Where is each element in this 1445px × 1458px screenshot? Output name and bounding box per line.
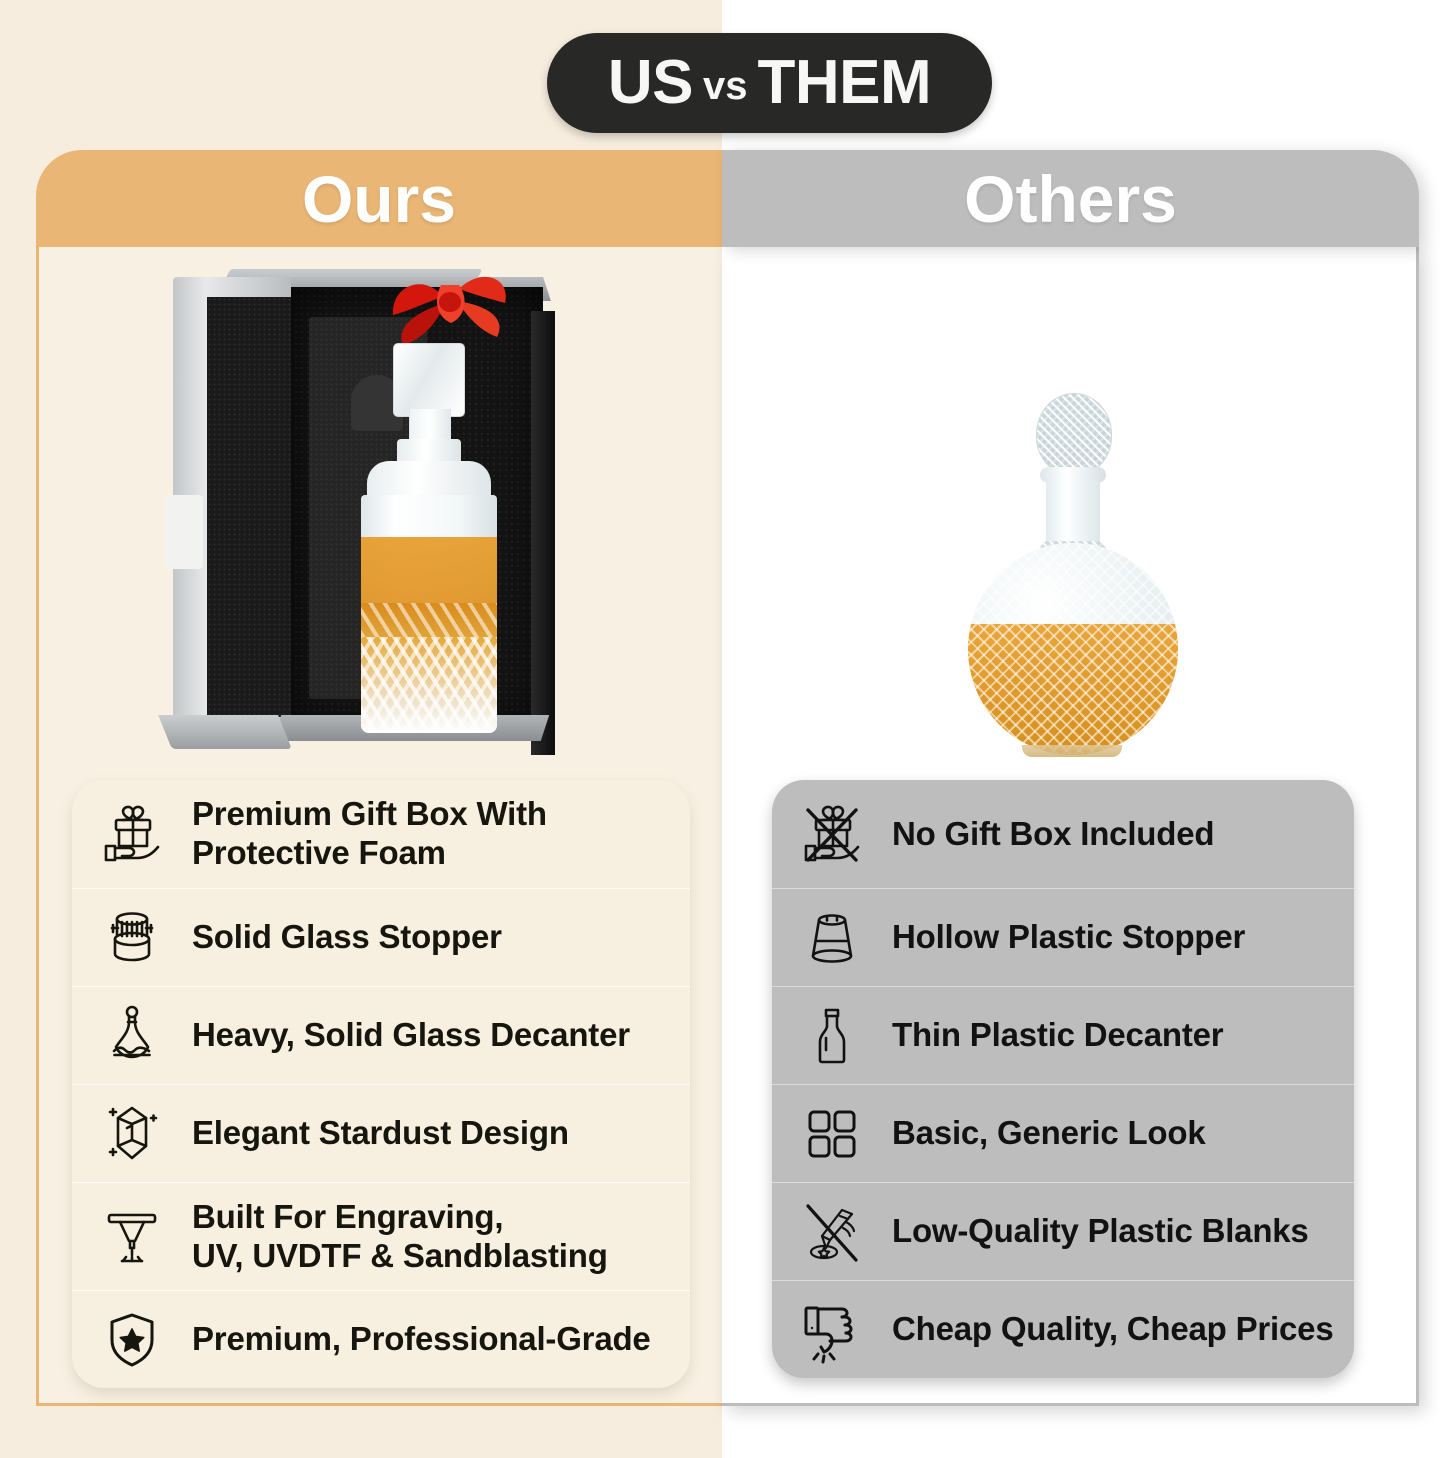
others-feature-row-plastic-blanks: Low-Quality Plastic Blanks (772, 1182, 1354, 1280)
glass-stopper-icon (72, 902, 192, 974)
others-feature-row-hollow-stopper: Hollow Plastic Stopper (772, 888, 1354, 986)
ours-feature-row-stopper: Solid Glass Stopper (72, 888, 690, 986)
thin-bottle-icon (772, 1000, 892, 1072)
others-feature-label: No Gift Box Included (892, 815, 1224, 854)
ours-feature-row-gift-box: Premium Gift Box With Protective Foam (72, 780, 690, 888)
others-feature-label: Low-Quality Plastic Blanks (892, 1212, 1319, 1251)
title-them: THEM (757, 52, 931, 114)
ours-product-photo (39, 247, 722, 767)
engraving-pen-crossed-out-icon (772, 1196, 892, 1268)
ours-feature-label: Heavy, Solid Glass Decanter (192, 1016, 640, 1055)
title-vs: vs (703, 66, 748, 106)
others-feature-row-thin-decanter: Thin Plastic Decanter (772, 986, 1354, 1084)
gem-sparkle-icon (72, 1098, 192, 1170)
ours-feature-row-engraving: Built For Engraving, UV, UVDTF & Sandbla… (72, 1182, 690, 1290)
others-product-photo (722, 247, 1416, 767)
ours-feature-label: Premium, Professional-Grade (192, 1320, 661, 1359)
others-feature-row-cheap-quality: Cheap Quality, Cheap Prices (772, 1280, 1354, 1378)
ours-feature-row-decanter: Heavy, Solid Glass Decanter (72, 986, 690, 1084)
ours-feature-row-premium: Premium, Professional-Grade (72, 1290, 690, 1388)
comparison-infographic: US vs THEM (0, 0, 1445, 1458)
ours-feature-label: Elegant Stardust Design (192, 1114, 579, 1153)
others-feature-label: Basic, Generic Look (892, 1114, 1216, 1153)
laser-engraver-icon (72, 1201, 192, 1273)
ours-feature-row-stardust: Elegant Stardust Design (72, 1084, 690, 1182)
others-feature-label: Thin Plastic Decanter (892, 1016, 1233, 1055)
round-textured-decanter (958, 393, 1188, 763)
shield-star-icon (72, 1304, 192, 1376)
decanter-bottle-icon (72, 1000, 192, 1072)
title-badge: US vs THEM (547, 33, 992, 133)
others-feature-label: Hollow Plastic Stopper (892, 918, 1255, 957)
hollow-plastic-stopper-icon (772, 902, 892, 974)
gift-box-in-hand-icon (72, 798, 192, 870)
others-feature-row-no-gift-box: No Gift Box Included (772, 780, 1354, 888)
others-header: Others (722, 150, 1419, 247)
ours-feature-label: Built For Engraving, UV, UVDTF & Sandbla… (192, 1198, 618, 1276)
four-squares-grid-icon (772, 1098, 892, 1170)
others-feature-list: No Gift Box Included Hollow Plastic Stop… (772, 780, 1354, 1378)
others-feature-row-generic-look: Basic, Generic Look (772, 1084, 1354, 1182)
others-feature-label: Cheap Quality, Cheap Prices (892, 1310, 1343, 1349)
gift-box-crossed-out-icon (772, 798, 892, 870)
ours-header-label: Ours (302, 166, 456, 232)
square-crystal-decanter (349, 343, 509, 743)
ours-feature-label: Premium Gift Box With Protective Foam (192, 795, 557, 873)
others-header-label: Others (964, 166, 1177, 232)
ours-header: Ours (36, 150, 722, 247)
ours-feature-list: Premium Gift Box With Protective Foam So… (72, 780, 690, 1388)
thumbs-down-icon (772, 1294, 892, 1366)
title-us: US (608, 52, 693, 114)
ours-feature-label: Solid Glass Stopper (192, 918, 512, 957)
